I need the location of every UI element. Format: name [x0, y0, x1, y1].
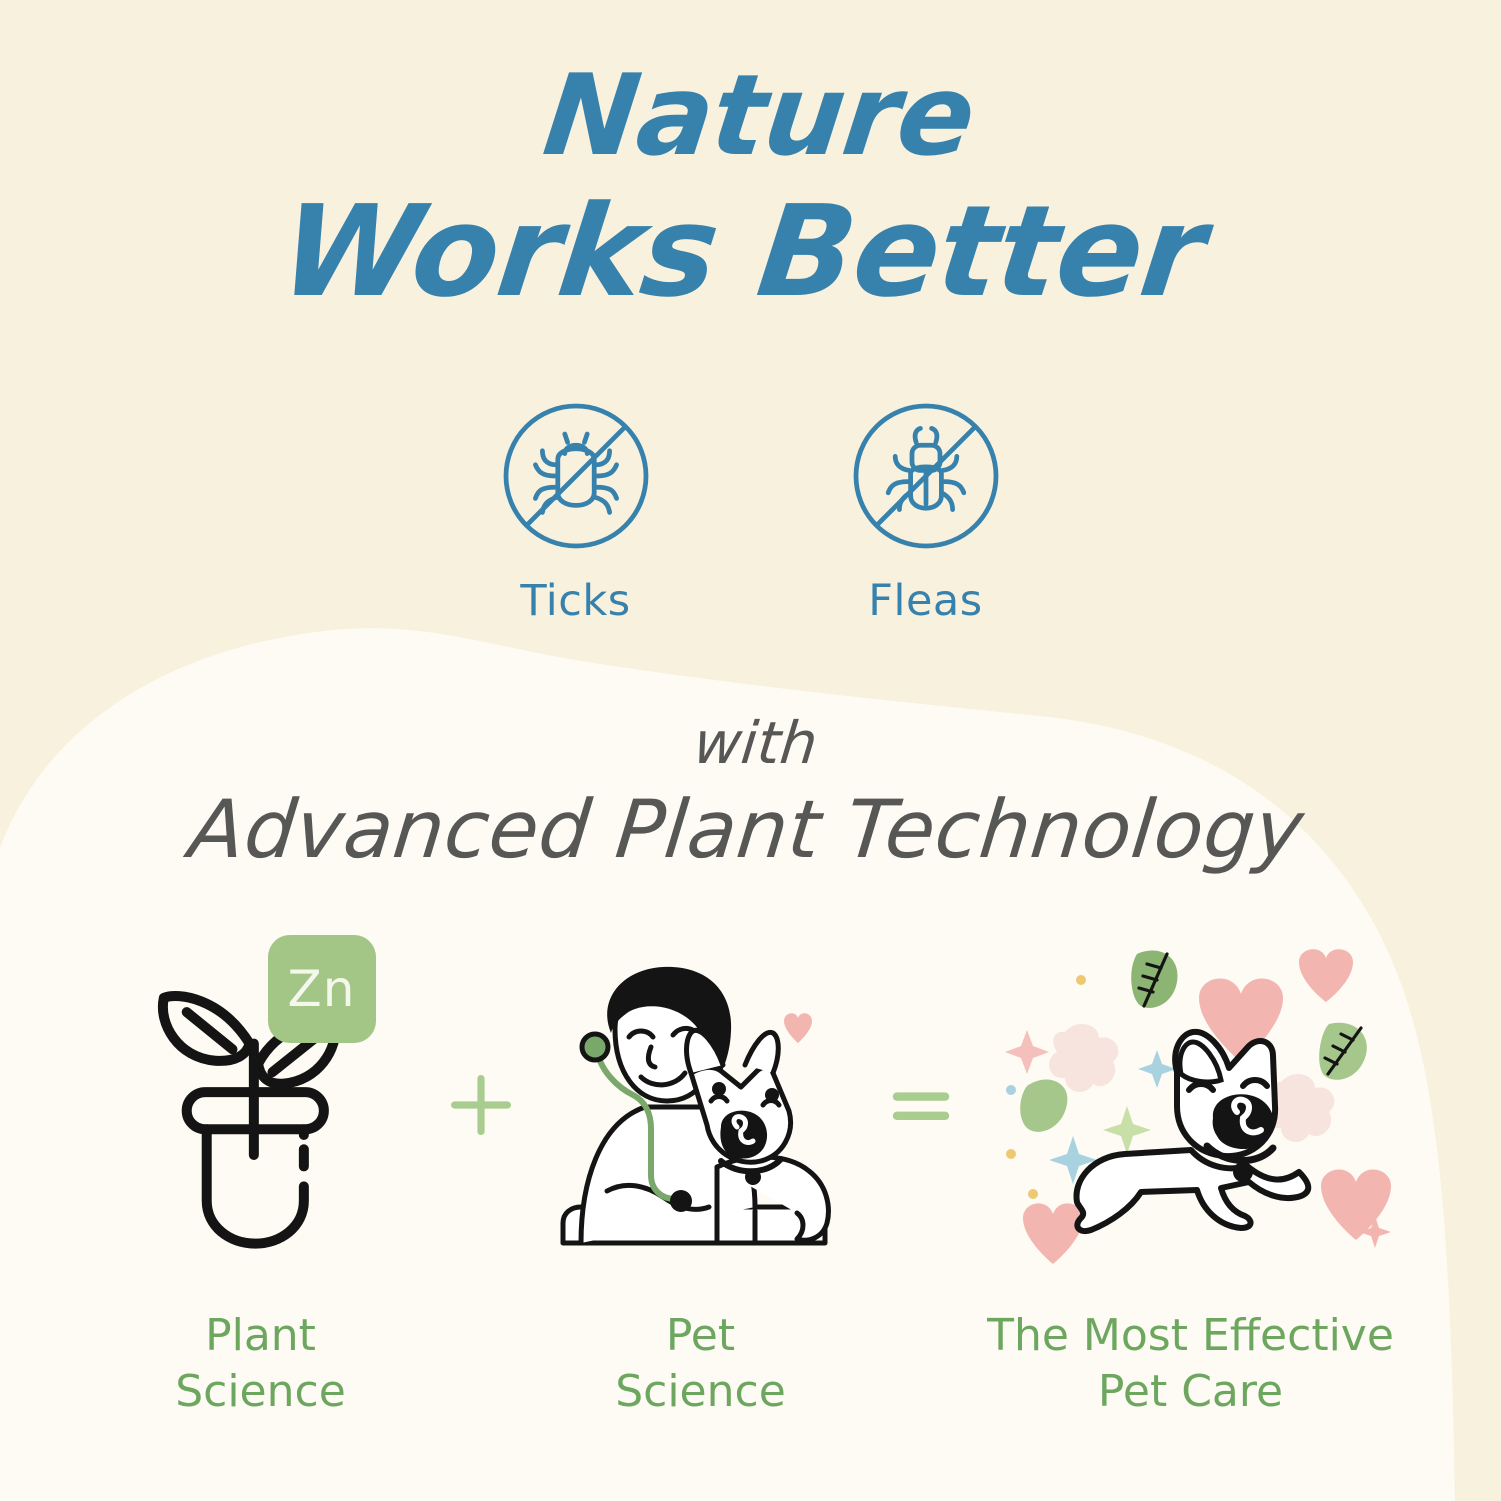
caption-effective-pet-care: The Most Effective Pet Care	[976, 1308, 1406, 1421]
equation-captions: Plant Science Pet Science The Most Effec…	[0, 1308, 1501, 1421]
stethoscope-earpiece	[582, 1034, 608, 1060]
vet-hugging-dog-icon	[541, 955, 861, 1255]
decor-sparkle-green	[1103, 1106, 1151, 1154]
pest-item-ticks: Ticks	[486, 392, 666, 626]
equation-item-pet-science	[536, 925, 866, 1285]
caption-result-line-1: The Most Effective	[976, 1308, 1406, 1364]
pest-protection-row: Ticks	[0, 392, 1501, 626]
subheading: with Advanced Plant Technology	[0, 712, 1501, 873]
happy-leaping-dog-icon	[981, 940, 1401, 1270]
caption-pet-line-2: Science	[536, 1364, 866, 1420]
pest-label-fleas: Fleas	[868, 576, 982, 626]
subheading-line-2: Advanced Plant Technology	[0, 787, 1501, 873]
decor-sparkle-pink	[1005, 1030, 1049, 1074]
decor-heart-topright	[1299, 949, 1353, 1002]
headline-line-1: Nature	[2, 58, 1501, 176]
caption-plant-line-2: Science	[96, 1364, 426, 1420]
decor-dot-blue	[1006, 1085, 1016, 1095]
headline-line-2: Works Better	[0, 186, 1501, 318]
heart-shape	[784, 1013, 812, 1043]
collar-tag	[745, 1169, 761, 1185]
caption-pet-line-1: Pet	[536, 1308, 866, 1364]
headline: Nature Works Better	[0, 58, 1501, 318]
caption-plant-line-1: Plant	[96, 1308, 426, 1364]
caption-pet-science: Pet Science	[536, 1308, 866, 1421]
decor-heart-bottomleft	[1023, 1203, 1083, 1264]
caption-plant-science: Plant Science	[96, 1308, 426, 1421]
caption-result-line-2: Pet Care	[976, 1364, 1406, 1420]
equals-operator	[866, 925, 976, 1285]
decor-dot-yellow-low	[1028, 1189, 1038, 1199]
equation-item-plant-science: Zn	[96, 925, 426, 1285]
poster-root: Nature Works Better	[0, 0, 1501, 1501]
decor-sparkle-blue-top	[1138, 1050, 1176, 1088]
stethoscope-chestpiece	[670, 1190, 692, 1212]
pest-label-ticks: Ticks	[520, 576, 630, 626]
dog-eye-left	[712, 1082, 726, 1096]
decor-dot-yellow-mid	[1006, 1149, 1016, 1159]
equation-item-effective-pet-care	[976, 925, 1406, 1285]
decor-leaf-left	[1020, 1080, 1067, 1132]
subheading-line-1: with	[2, 712, 1501, 775]
decor-dot-yellow-top	[1076, 975, 1086, 985]
no-tick-icon	[492, 392, 660, 560]
dog-eye-right	[765, 1088, 779, 1102]
plus-icon	[445, 1069, 517, 1141]
equation-row: Zn	[0, 925, 1501, 1285]
zn-badge: Zn	[268, 935, 376, 1043]
plus-operator	[426, 925, 536, 1285]
equals-icon	[885, 1069, 957, 1141]
decor-flower-left	[1049, 1024, 1118, 1092]
pest-item-fleas: Fleas	[836, 392, 1016, 626]
collar-tag	[1233, 1162, 1253, 1182]
no-flea-icon	[842, 392, 1010, 560]
